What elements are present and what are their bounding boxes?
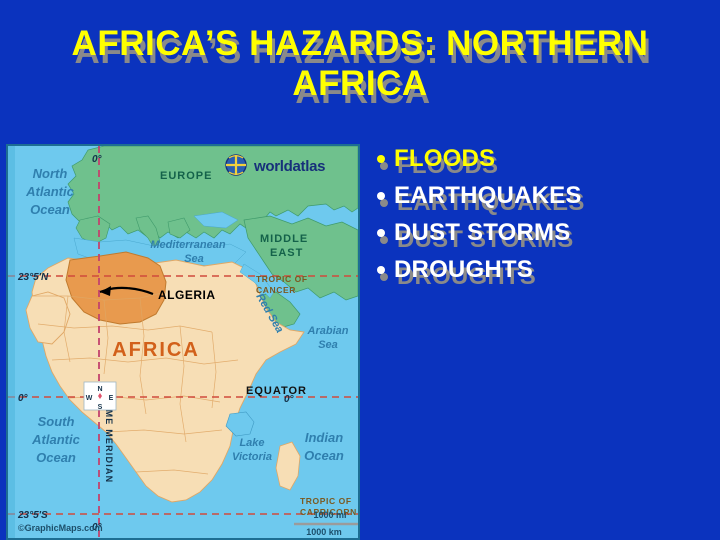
- latitude-label-23n: 23°5'N: [17, 272, 49, 283]
- latitude-label-0: 0°: [18, 393, 29, 404]
- compass-label-n: N: [97, 386, 102, 393]
- graticule-label-capricorn-1: TROPIC OF: [300, 496, 352, 506]
- lake-label-victoria-1: Lake: [239, 437, 264, 449]
- worldatlas-wordmark: worldatlas: [253, 158, 325, 175]
- region-label-middle-east-2: EAST: [270, 247, 303, 259]
- map-left-rail: [8, 146, 15, 538]
- list-item-label: EARTHQUAKES: [394, 183, 582, 209]
- list-item-label: DUST STORMS: [394, 220, 570, 246]
- compass-label-e: E: [109, 395, 114, 402]
- bullet-fill-1: [377, 192, 385, 200]
- graticule-label-cancer-1: TROPIC OF: [256, 274, 308, 284]
- map-credit: ©GraphicMaps.com: [18, 523, 103, 533]
- compass-rose-icon: N W E S: [84, 382, 116, 411]
- ocean-label-north-atlantic-3: Ocean: [30, 202, 70, 217]
- ocean-label-south-atlantic-2: Atlantic: [31, 432, 80, 447]
- bullet-dot-icon: [372, 146, 394, 172]
- slide-canvas: AFRICA’S HAZARDS: NORTHERN AFRICA FLOODS…: [0, 0, 720, 540]
- list-item[interactable]: EARTHQUAKES: [372, 183, 712, 220]
- list-item-label: DROUGHTS: [394, 257, 533, 283]
- bullet-dot-icon: [372, 183, 394, 209]
- africa-map-image[interactable]: worldatlas EUROPE MIDDLE EAST AFRICA Nor…: [6, 144, 360, 540]
- region-label-europe: EUROPE: [160, 170, 212, 182]
- ocean-label-south-atlantic-1: South: [38, 414, 75, 429]
- bullet-fill-0: [377, 155, 385, 163]
- graticule-label-cancer-2: CANCER: [256, 285, 296, 295]
- ocean-label-indian-1: Indian: [305, 430, 343, 445]
- list-item[interactable]: DROUGHTS: [372, 257, 712, 294]
- scale-label-miles: 1000 mi: [313, 510, 346, 520]
- country-label-algeria: ALGERIA: [158, 288, 216, 302]
- list-item[interactable]: DUST STORMS: [372, 220, 712, 257]
- ocean-label-south-atlantic-3: Ocean: [36, 450, 76, 465]
- longitude-label-equator-right: 0°: [284, 394, 295, 405]
- worldatlas-logo[interactable]: worldatlas: [226, 155, 325, 175]
- longitude-label-top: 0°: [92, 154, 103, 165]
- hazard-list: FLOODS EARTHQUAKES DUST STORMS DROUGHTS: [372, 146, 712, 294]
- bullet-fill-2: [377, 229, 385, 237]
- ocean-label-arabian-2: Sea: [318, 339, 338, 351]
- lake-label-victoria-2: Victoria: [232, 451, 272, 463]
- region-label-middle-east-1: MIDDLE: [260, 233, 308, 245]
- ocean-label-north-atlantic-2: Atlantic: [25, 184, 74, 199]
- list-item[interactable]: FLOODS: [372, 146, 712, 183]
- bullet-dot-icon: [372, 220, 394, 246]
- sea-label-mediterranean-1: Mediterranean: [150, 239, 225, 251]
- page-title: AFRICA’S HAZARDS: NORTHERN AFRICA: [18, 24, 702, 104]
- latitude-label-23s: 23°5'S: [17, 510, 48, 521]
- ocean-label-arabian-1: Arabian: [307, 325, 349, 337]
- graticule-label-equator: EQUATOR: [246, 385, 307, 397]
- compass-label-s: S: [98, 404, 103, 411]
- map-graphic: worldatlas EUROPE MIDDLE EAST AFRICA Nor…: [8, 146, 358, 538]
- ocean-label-north-atlantic-1: North: [33, 166, 68, 181]
- sea-label-mediterranean-2: Sea: [184, 253, 204, 265]
- region-label-africa: AFRICA: [112, 339, 200, 361]
- ocean-label-indian-2: Ocean: [304, 448, 344, 463]
- compass-label-w: W: [86, 395, 93, 402]
- scale-label-kilometers: 1000 km: [306, 527, 342, 537]
- bullet-fill-3: [377, 266, 385, 274]
- list-item-label: FLOODS: [394, 146, 495, 172]
- bullet-dot-icon: [372, 257, 394, 283]
